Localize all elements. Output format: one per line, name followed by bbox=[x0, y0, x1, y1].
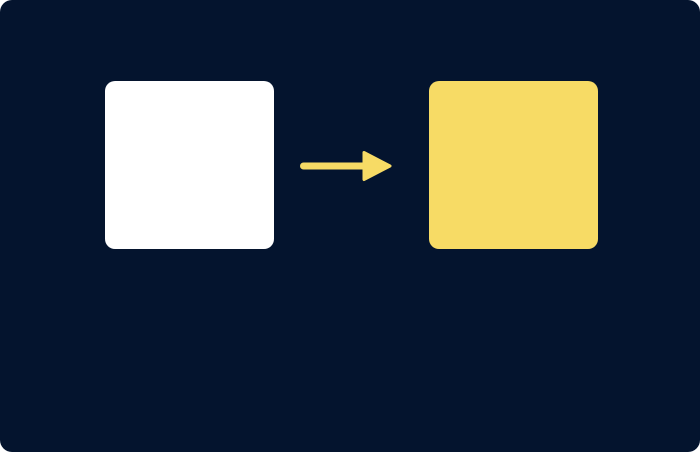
graphic-card: Sensitivity Analysis bbox=[0, 0, 700, 452]
input-box bbox=[105, 81, 274, 249]
flow-diagram bbox=[0, 0, 700, 300]
output-box bbox=[429, 81, 598, 249]
caption-block: Sensitivity Analysis bbox=[0, 300, 700, 452]
arrow-right-icon bbox=[298, 150, 392, 182]
